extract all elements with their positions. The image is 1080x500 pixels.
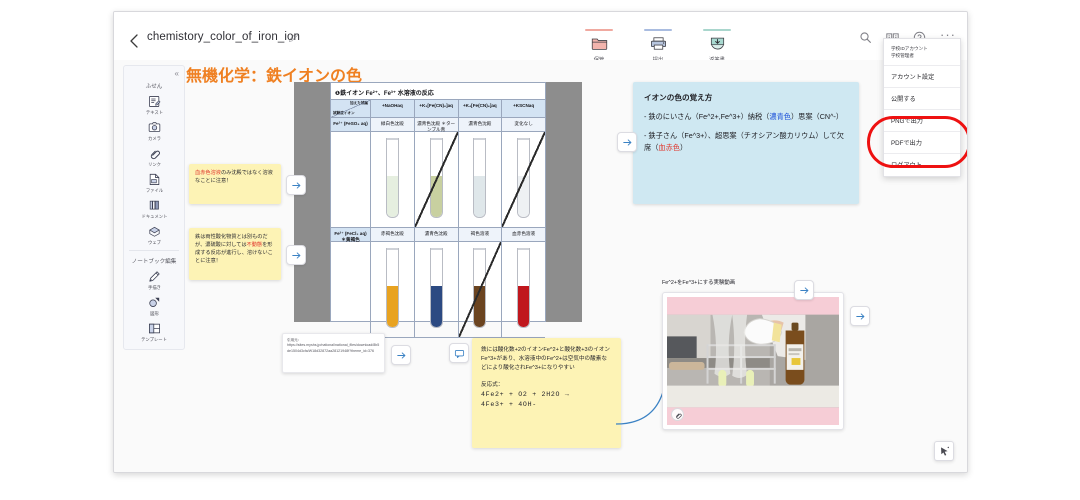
table-caption: ❶鉄イオン Fe²⁺、Fe³⁺ 水溶液の反応	[331, 83, 545, 100]
table-header-row: 加えた試薬 試験液イオン +NaOHaq +K₃[Fe(CN)₆]aq +K₄[…	[331, 100, 545, 118]
table-col-header: +NaOHaq	[371, 100, 415, 118]
palette-item-camera[interactable]: カメラ	[139, 118, 170, 143]
account-id: 学校IDアカウント	[891, 46, 953, 53]
table-left-panel	[294, 82, 330, 322]
file-icon	[139, 172, 170, 187]
table-cell-result: 濃青色沈殿	[415, 228, 459, 242]
palette-item-shape[interactable]: 図形	[139, 293, 170, 318]
mnemonic-line-1: - 鉄のにいさん（Fe^2+,Fe^3+）納税（濃青色）思案（CN^-）	[644, 111, 848, 124]
palette-item-shape-label: 図形	[139, 311, 168, 317]
palette-item-document-label: ドキュメント	[139, 214, 168, 220]
palette-item-pen-label: 手描き	[139, 285, 168, 291]
menu-divider	[884, 153, 960, 154]
test-tube-cell	[415, 132, 459, 228]
photo-arrow-button-top[interactable]	[794, 280, 814, 300]
document-title[interactable]: chemistory_color_of_iron_ion	[147, 31, 300, 43]
reaction-table-block[interactable]: ❶鉄イオン Fe²⁺、Fe³⁺ 水溶液の反応 加えた試薬 試験液イオン +NaO…	[294, 82, 582, 322]
palette-collapse-icon[interactable]: «	[124, 66, 184, 79]
table-row-label: Fe³⁺ (FeCl₃ aq) ＊黄褐色	[331, 228, 371, 242]
palette-item-template-label: テンプレート	[126, 337, 182, 343]
sticky-note-caution-1[interactable]: 血赤色溶液のみ沈殿ではなく溶液なことに注意！	[189, 164, 281, 204]
palette-section-title-sticky: ふせん	[124, 79, 184, 92]
table-cell-result: 変化なし	[502, 118, 545, 132]
table-cell-result: 濃青色沈殿	[459, 118, 503, 132]
sticky-note-caution-1-text: 血赤色溶液のみ沈殿ではなく溶液なことに注意！	[189, 164, 281, 190]
palette-item-camera-label: カメラ	[139, 136, 168, 142]
cyan-note-arrow-button[interactable]	[617, 132, 637, 152]
tool-return[interactable]: 返答書	[698, 29, 736, 63]
tool-palette: « ふせん テキスト	[123, 65, 185, 350]
palette-item-web-label: ウェブ	[139, 240, 168, 246]
tool-submit[interactable]: 提出	[639, 29, 677, 63]
camera-icon	[139, 120, 170, 135]
sticky-note-caution-2-text: 鉄は両性酸化物質とは別ものだが、濃硫酸に対しては不動態を形成する反応が進行し、溶…	[189, 228, 281, 270]
test-tube-cell	[415, 242, 459, 338]
palette-item-file[interactable]: ファイル	[139, 170, 170, 195]
arrow-right-icon	[855, 311, 866, 322]
palette-item-document[interactable]: ドキュメント	[139, 196, 170, 221]
palette-section-title-edit: ノートブック編集	[124, 254, 184, 267]
palette-item-template[interactable]: テンプレート	[124, 319, 184, 344]
download-hand-icon	[698, 34, 736, 53]
search-icon[interactable]	[859, 31, 872, 44]
table-cell-result: 血赤色溶液	[502, 228, 545, 242]
mnemonic-body: イオンの色の覚え方 - 鉄のにいさん（Fe^2+,Fe^3+）納税（濃青色）思案…	[633, 82, 859, 170]
table-row-fe3-tubes	[331, 242, 545, 338]
test-tube	[386, 138, 399, 218]
account-menu-header: 学校IDアカウント 学校管理者	[884, 41, 960, 64]
palette-sticky-items: テキスト カメラ	[124, 92, 184, 247]
menu-divider	[884, 109, 960, 110]
table-corner-top-label: 加えた試薬	[350, 101, 368, 106]
table-row-fe2-tubes	[331, 132, 545, 228]
arrow-right-icon	[291, 250, 302, 261]
citation-url[interactable]: https://sites.myshs.jp/national/national…	[287, 343, 380, 354]
palette-item-web[interactable]: ウェブ	[139, 222, 170, 247]
oxidation-explanation: 鉄には酸化数+2のイオンFe^2+と酸化数+3のイオンFe^3+があり、水溶液中…	[481, 347, 610, 371]
experiment-photo	[667, 297, 839, 425]
back-arrow-icon[interactable]	[127, 33, 143, 49]
menu-item-export-png[interactable]: PNGで出力	[884, 111, 960, 130]
oxidation-note-arrow-button[interactable]	[449, 343, 469, 363]
pen-icon	[139, 269, 170, 284]
folder-icon	[580, 34, 618, 53]
link-chain-icon[interactable]	[671, 408, 684, 421]
sticky-note-mnemonic[interactable]: イオンの色の覚え方 - 鉄のにいさん（Fe^2+,Fe^3+）納税（濃青色）思案…	[633, 82, 859, 204]
table-corner-bottom-label: 試験液イオン	[333, 111, 355, 116]
account-role: 学校管理者	[891, 53, 953, 60]
mnemonic-heading: イオンの色の覚え方	[644, 91, 848, 104]
pointer-tool-button[interactable]	[934, 441, 954, 461]
test-tube-cell	[502, 132, 545, 228]
link-icon	[139, 146, 170, 161]
table-cell-result: 緑白色沈殿	[371, 118, 415, 132]
arrow-right-icon	[396, 350, 407, 361]
citation-text: 引用元： https://sites.myshs.jp/national/nat…	[283, 334, 384, 358]
printer-icon	[639, 34, 677, 53]
pencil-icon[interactable]	[288, 32, 299, 43]
citation-arrow-button[interactable]	[391, 345, 411, 365]
top-bar: chemistory_color_of_iron_ion 保管	[114, 12, 967, 60]
test-tube-cell	[502, 242, 545, 338]
table-right-panel	[546, 82, 582, 322]
reaction-formula-label: 反応式：	[481, 381, 612, 390]
palette-item-link-label: リンク	[139, 162, 168, 168]
shape-icon	[139, 295, 170, 310]
table-cell-result: 褐色溶液	[459, 228, 503, 242]
app-window: chemistory_color_of_iron_ion 保管	[113, 11, 968, 473]
menu-item-publish[interactable]: 公開する	[884, 89, 960, 108]
strike-through-mark	[415, 132, 458, 227]
test-tube	[517, 248, 530, 328]
palette-divider	[129, 250, 179, 251]
note-1-arrow-button[interactable]	[286, 175, 306, 195]
sticky-note-oxidation[interactable]: 鉄には酸化数+2のイオンFe^2+と酸化数+3のイオンFe^3+があり、水溶液中…	[472, 338, 621, 448]
menu-divider	[884, 87, 960, 88]
screenshot-root: chemistory_color_of_iron_ion 保管	[0, 0, 1080, 500]
oxidation-body: 鉄には酸化数+2のイオンFe^2+と酸化数+3のイオンFe^3+があり、水溶液中…	[472, 338, 621, 419]
photo-arrow-button-right[interactable]	[850, 306, 870, 326]
notebook-canvas[interactable]: « ふせん テキスト	[114, 60, 967, 472]
reaction-equation-line-2: 4Fe3+ + 4OH-	[481, 400, 612, 410]
reaction-equation-line-1: 4Fe2+ + O2 + 2H2O →	[481, 390, 612, 400]
table-row-fe3-labels: Fe³⁺ (FeCl₃ aq) ＊黄褐色 赤褐色沈殿 濃青色沈殿 褐色溶液 血赤…	[331, 228, 545, 242]
citation-card[interactable]: 引用元： https://sites.myshs.jp/national/nat…	[282, 333, 385, 373]
table-row-spacer	[331, 132, 371, 228]
table-col-header: +K₄[Fe(CN)₆]aq	[459, 100, 503, 118]
menu-item-account-settings[interactable]: アカウント設定	[884, 67, 960, 86]
table-row-fe2-labels: Fe²⁺ (FeSO₄ aq) 緑白色沈殿 濃青色沈殿 ＊ターンブル青 濃青色沈…	[331, 118, 545, 132]
test-tube	[386, 248, 399, 328]
arrow-right-icon	[799, 285, 810, 296]
table-cell-result: 赤褐色沈殿	[371, 228, 415, 242]
palette-item-text[interactable]: テキスト	[139, 92, 170, 117]
strike-through-mark	[459, 242, 502, 337]
photo-caption: Fe^2+をFe^3+にする実験動画	[662, 278, 735, 286]
speech-bubble-icon	[454, 348, 465, 359]
palette-item-text-label: テキスト	[139, 110, 168, 116]
strike-through-mark	[502, 132, 545, 227]
table-col-header: +K₃[Fe(CN)₆]aq	[415, 100, 459, 118]
tool-save[interactable]: 保管	[580, 29, 618, 63]
test-tube-cell	[459, 132, 503, 228]
pointer-tool-icon	[939, 446, 950, 457]
note-2-arrow-button[interactable]	[286, 245, 306, 265]
table-col-header: +KSCNaq	[502, 100, 545, 118]
palette-item-link[interactable]: リンク	[139, 144, 170, 169]
account-menu: 学校IDアカウント 学校管理者 アカウント設定 公開する PNGで出力 PDFで…	[883, 38, 961, 177]
center-toolbar: 保管 提出	[580, 29, 736, 63]
arrow-right-icon	[291, 180, 302, 191]
table-cell-result: 濃青色沈殿 ＊ターンブル青	[415, 118, 459, 132]
document-icon	[139, 198, 170, 213]
palette-edit-items: 手描き 図形	[124, 267, 184, 344]
menu-item-export-pdf[interactable]: PDFで出力	[884, 133, 960, 152]
sticky-note-caution-2[interactable]: 鉄は両性酸化物質とは別ものだが、濃硫酸に対しては不動態を形成する反応が進行し、溶…	[189, 228, 281, 280]
template-icon	[124, 321, 184, 336]
menu-divider	[884, 131, 960, 132]
test-tube	[473, 138, 486, 218]
test-tube-cell	[371, 242, 415, 338]
table-row-label: Fe²⁺ (FeSO₄ aq)	[331, 118, 371, 132]
experiment-photo-card[interactable]	[662, 292, 844, 430]
table-row-spacer	[331, 242, 371, 338]
palette-item-pen[interactable]: 手描き	[139, 267, 170, 292]
web-icon	[139, 224, 170, 239]
table-corner-cell: 加えた試薬 試験液イオン	[331, 100, 371, 118]
test-tube	[430, 248, 443, 328]
menu-divider	[884, 65, 960, 66]
reaction-table: ❶鉄イオン Fe²⁺、Fe³⁺ 水溶液の反応 加えた試薬 試験液イオン +NaO…	[330, 82, 546, 322]
palette-item-file-label: ファイル	[139, 188, 168, 194]
test-tube-cell	[371, 132, 415, 228]
menu-item-logout[interactable]: ログアウト	[884, 155, 960, 174]
arrow-right-icon	[622, 137, 633, 148]
text-note-icon	[139, 94, 170, 109]
mnemonic-line-2: - 鉄子さん（Fe^3+）、超思案（チオシアン酸カリウム）して欠席（血赤色）	[644, 130, 848, 155]
test-tube-cell	[459, 242, 503, 338]
